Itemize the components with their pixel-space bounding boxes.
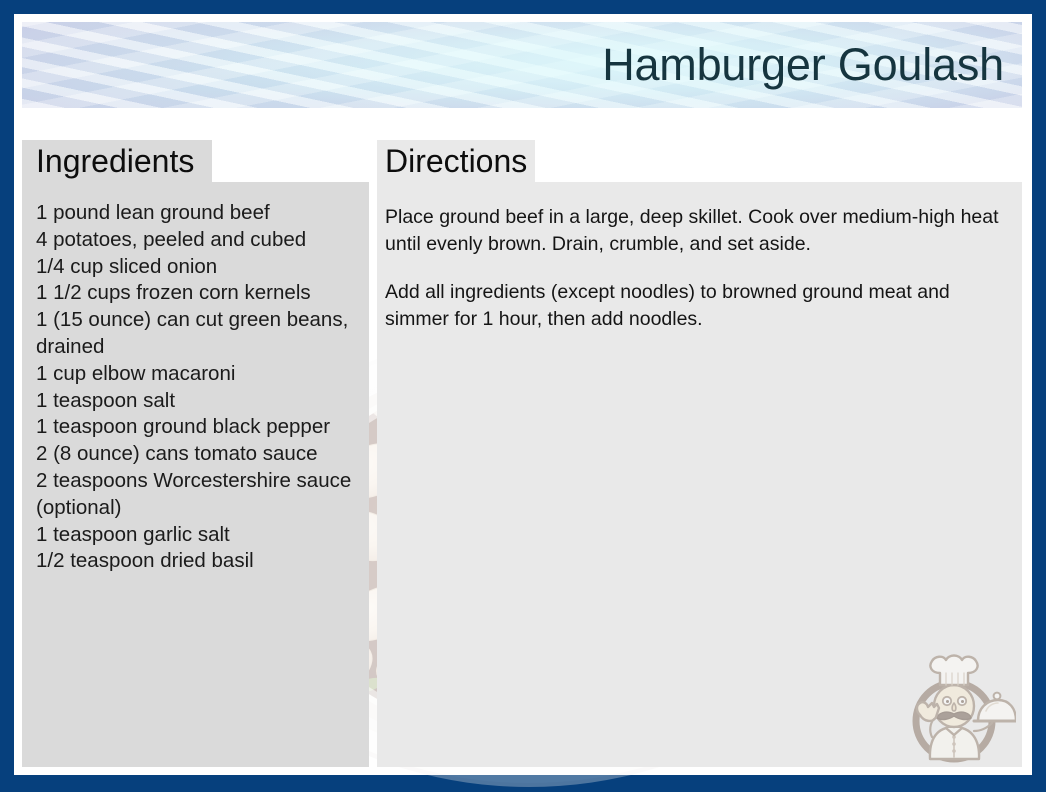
list-item: 1 teaspoon garlic salt xyxy=(36,522,355,549)
directions-heading: Directions xyxy=(385,140,527,182)
title-banner: Hamburger Goulash xyxy=(22,22,1022,108)
list-item: 1 1/2 cups frozen corn kernels xyxy=(36,280,355,307)
ingredients-header: Ingredients xyxy=(22,140,369,182)
list-item: 1 pound lean ground beef xyxy=(36,200,355,227)
ingredient-list: 1 pound lean ground beef 4 potatoes, pee… xyxy=(36,200,355,575)
recipe-card: Hamburger Goulash xyxy=(0,0,1046,792)
list-item: 2 (8 ounce) cans tomato sauce xyxy=(36,441,355,468)
recipe-title: Hamburger Goulash xyxy=(602,39,1004,91)
ingredients-heading: Ingredients xyxy=(36,140,194,182)
directions-header: Directions xyxy=(377,140,1022,182)
direction-step: Place ground beef in a large, deep skill… xyxy=(385,204,1006,257)
directions-header-notch xyxy=(535,140,1022,182)
ingredients-body: 1 pound lean ground beef 4 potatoes, pee… xyxy=(22,182,369,575)
directions-panel: Directions Place ground beef in a large,… xyxy=(377,140,1022,767)
directions-body: Place ground beef in a large, deep skill… xyxy=(377,182,1022,332)
list-item: 1 teaspoon salt xyxy=(36,388,355,415)
recipe-card-inner: Hamburger Goulash xyxy=(14,14,1032,775)
list-item: 2 teaspoons Worcestershire sauce (option… xyxy=(36,468,355,522)
list-item: 1/4 cup sliced onion xyxy=(36,254,355,281)
list-item: 1 (15 ounce) can cut green beans, draine… xyxy=(36,307,355,361)
list-item: 1 cup elbow macaroni xyxy=(36,361,355,388)
list-item: 1 teaspoon ground black pepper xyxy=(36,414,355,441)
list-item: 1/2 teaspoon dried basil xyxy=(36,548,355,575)
ingredients-header-notch xyxy=(212,140,369,182)
direction-step: Add all ingredients (except noodles) to … xyxy=(385,279,1006,332)
ingredients-panel: Ingredients 1 pound lean ground beef 4 p… xyxy=(22,140,369,767)
list-item: 4 potatoes, peeled and cubed xyxy=(36,227,355,254)
